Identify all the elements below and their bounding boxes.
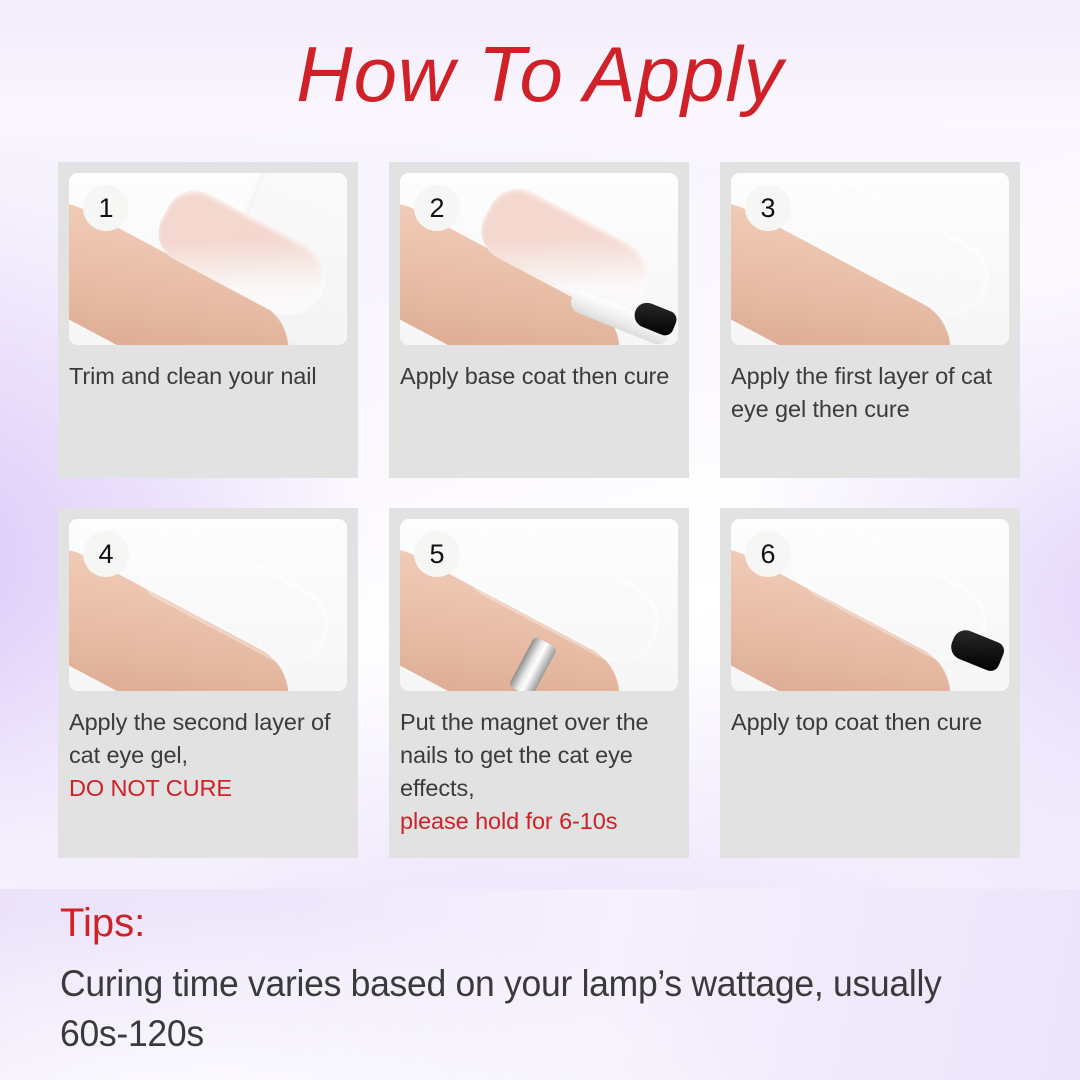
- step-4-photo: 4: [69, 519, 347, 691]
- step-5-badge: 5: [414, 531, 460, 577]
- step-3-photo: 3: [731, 173, 1009, 345]
- step-5-caption-text: Put the magnet over the nails to get the…: [400, 709, 649, 801]
- step-6-caption-text: Apply top coat then cure: [731, 709, 982, 735]
- step-3-caption: Apply the first layer of cat eye gel the…: [731, 360, 1009, 426]
- step-2-caption: Apply base coat then cure: [400, 360, 678, 393]
- step-6-photo: 6: [731, 519, 1009, 691]
- step-5-caption: Put the magnet over the nails to get the…: [400, 706, 678, 838]
- step-4-badge: 4: [83, 531, 129, 577]
- tips-label: Tips:: [60, 898, 1040, 948]
- step-4-caption-text: Apply the second layer of cat eye gel,: [69, 709, 330, 768]
- step-2-caption-text: Apply base coat then cure: [400, 363, 669, 389]
- step-2-photo: 2: [400, 173, 678, 345]
- step-card-4: 4 Apply the second layer of cat eye gel,…: [58, 508, 358, 858]
- step-1-caption-text: Trim and clean your nail: [69, 363, 317, 389]
- page-title: How To Apply: [0, 28, 1080, 120]
- step-card-5: 5 Put the magnet over the nails to get t…: [389, 508, 689, 858]
- tips-section: Tips: Curing time varies based on your l…: [60, 898, 1040, 1059]
- step-2-badge: 2: [414, 185, 460, 231]
- step-1-caption: Trim and clean your nail: [69, 360, 347, 393]
- step-3-badge: 3: [745, 185, 791, 231]
- step-3-caption-text: Apply the first layer of cat eye gel the…: [731, 363, 992, 422]
- step-1-badge: 1: [83, 185, 129, 231]
- step-card-1: 1 Trim and clean your nail: [58, 162, 358, 478]
- step-card-6: 6 Apply top coat then cure: [720, 508, 1020, 858]
- step-4-caption: Apply the second layer of cat eye gel, D…: [69, 706, 347, 805]
- tips-body: Curing time varies based on your lamp’s …: [60, 959, 1001, 1059]
- step-card-3: 3 Apply the first layer of cat eye gel t…: [720, 162, 1020, 478]
- step-1-photo: 1: [69, 173, 347, 345]
- step-4-caption-accent: DO NOT CURE: [69, 772, 347, 805]
- step-card-2: 2 Apply base coat then cure: [389, 162, 689, 478]
- steps-grid: 1 Trim and clean your nail 2 Apply base …: [58, 162, 1020, 858]
- step-6-caption: Apply top coat then cure: [731, 706, 1009, 739]
- step-5-photo: 5: [400, 519, 678, 691]
- step-5-caption-accent: please hold for 6-10s: [400, 805, 678, 838]
- step-6-badge: 6: [745, 531, 791, 577]
